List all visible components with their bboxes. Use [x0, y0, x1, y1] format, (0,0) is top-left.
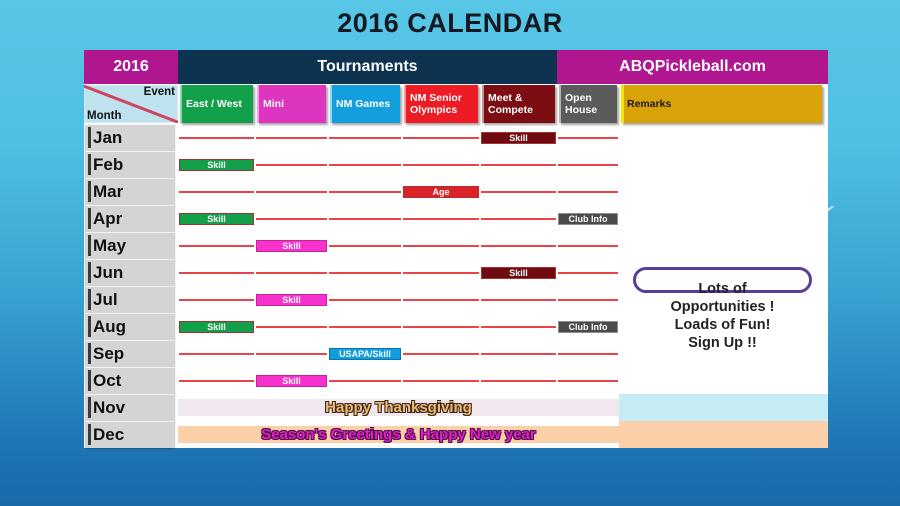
calendar-table: 2016 Tournaments ABQPickleball.com Event… — [84, 50, 828, 448]
cell-oct-nmg[interactable] — [328, 367, 402, 394]
column-header-mini-label: Mini — [257, 85, 326, 123]
remarks-line-3: Sign Up !! — [688, 334, 756, 352]
cell-text — [329, 218, 401, 220]
month-cell-apr: Apr — [84, 205, 178, 232]
banner-tournaments: Tournaments — [178, 50, 557, 84]
cell-text — [179, 380, 254, 382]
cell-feb-nmg[interactable] — [328, 151, 402, 178]
cell-sep-mini[interactable] — [255, 340, 328, 367]
column-header-remarks[interactable]: Remarks — [619, 84, 828, 124]
cell-text — [256, 137, 327, 139]
cell-jan-open[interactable] — [557, 124, 619, 151]
cell-oct-meet[interactable] — [480, 367, 557, 394]
month-cell-jan: Jan — [84, 124, 178, 151]
cell-text — [558, 380, 618, 382]
event-month-corner: Event Month — [84, 84, 178, 124]
cell-sep-open[interactable] — [557, 340, 619, 367]
cell-aug-ew[interactable]: Skill — [178, 313, 255, 340]
dec-remarks-blank — [619, 421, 828, 448]
cell-text — [329, 245, 401, 247]
cell-aug-meet[interactable] — [480, 313, 557, 340]
cell-jul-ew[interactable] — [178, 286, 255, 313]
cell-text — [558, 272, 618, 274]
cell-text — [329, 326, 401, 328]
corner-event-label: Event — [144, 86, 175, 98]
remarks-line-1: Lots of Opportunities ! — [671, 280, 775, 316]
cell-feb-ew[interactable]: Skill — [178, 151, 255, 178]
cell-text: Age — [403, 186, 479, 198]
cell-text — [256, 218, 327, 220]
cell-apr-open[interactable]: Club Info — [557, 205, 619, 232]
cell-text — [558, 137, 618, 139]
month-cell-feb: Feb — [84, 151, 178, 178]
banner-website: ABQPickleball.com — [557, 50, 828, 84]
cell-text: Skill — [481, 132, 556, 144]
cell-text — [558, 191, 618, 193]
cell-text — [256, 191, 327, 193]
thanksgiving-text: Happy Thanksgiving — [325, 399, 472, 416]
cell-oct-mini[interactable]: Skill — [255, 367, 328, 394]
cell-mar-ew[interactable] — [178, 178, 255, 205]
cell-text — [558, 353, 618, 355]
month-label: Feb — [93, 155, 123, 175]
cell-jan-mini[interactable] — [255, 124, 328, 151]
cell-mar-nmg[interactable] — [328, 178, 402, 205]
cell-aug-nmso[interactable] — [402, 313, 480, 340]
cell-feb-meet[interactable] — [480, 151, 557, 178]
cell-apr-meet[interactable] — [480, 205, 557, 232]
cell-jan-meet[interactable]: Skill — [480, 124, 557, 151]
cell-text — [256, 164, 327, 166]
dec-banner-cell: Season's Greetings & Happy New year — [178, 421, 619, 448]
cell-text — [558, 245, 618, 247]
cell-jan-nmg[interactable] — [328, 124, 402, 151]
cell-text — [481, 191, 556, 193]
month-label: Aug — [93, 317, 126, 337]
cell-apr-nmg[interactable] — [328, 205, 402, 232]
column-header-east-west-label: East / West — [180, 85, 253, 123]
month-label: Mar — [93, 182, 123, 202]
month-label: Dec — [93, 425, 124, 445]
cell-oct-nmso[interactable] — [402, 367, 480, 394]
cell-text — [558, 164, 618, 166]
cell-text — [558, 299, 618, 301]
cell-text — [329, 137, 401, 139]
cell-text: Skill — [179, 213, 254, 225]
cell-oct-ew[interactable] — [178, 367, 255, 394]
table-row: Dec Season's Greetings & Happy New year — [84, 421, 828, 448]
banner-year: 2016 — [84, 50, 178, 84]
cell-jun-nmg[interactable] — [328, 259, 402, 286]
nov-remarks-blank — [619, 394, 828, 421]
cell-apr-nmso[interactable] — [402, 205, 480, 232]
banner-row: 2016 Tournaments ABQPickleball.com — [84, 50, 828, 84]
cell-feb-open[interactable] — [557, 151, 619, 178]
cell-text — [403, 164, 479, 166]
cell-text — [403, 353, 479, 355]
cell-may-nmg[interactable] — [328, 232, 402, 259]
cell-aug-open[interactable]: Club Info — [557, 313, 619, 340]
cell-text: Skill — [179, 321, 254, 333]
cell-jun-nmso[interactable] — [402, 259, 480, 286]
cell-text — [329, 380, 401, 382]
month-label: Jun — [93, 263, 123, 283]
cell-text — [403, 272, 479, 274]
month-label: Jul — [93, 290, 118, 310]
column-header-nm-senior-olympics[interactable]: NM Senior Olympics — [402, 84, 480, 124]
month-label: May — [93, 236, 126, 256]
cell-apr-mini[interactable] — [255, 205, 328, 232]
column-header-nm-games[interactable]: NM Games — [328, 84, 402, 124]
cell-text — [256, 326, 327, 328]
cell-mar-open[interactable] — [557, 178, 619, 205]
cell-text — [256, 353, 327, 355]
seasons-greetings-text: Season's Greetings & Happy New year — [261, 426, 536, 443]
month-cell-jun: Jun — [84, 259, 178, 286]
cell-sep-ew[interactable] — [178, 340, 255, 367]
cell-jul-meet[interactable] — [480, 286, 557, 313]
column-header-meet-compete-label: Meet & Compete — [482, 85, 555, 123]
cell-text: Club Info — [558, 321, 618, 333]
month-label: Jan — [93, 128, 122, 148]
remarks-line-2: Loads of Fun! — [675, 316, 771, 334]
cell-sep-nmg[interactable]: USAPA/Skill — [328, 340, 402, 367]
cell-text — [329, 164, 401, 166]
column-header-open-house[interactable]: Open House — [557, 84, 619, 124]
cell-may-meet[interactable] — [480, 232, 557, 259]
cell-text: Skill — [481, 267, 556, 279]
cell-sep-meet[interactable] — [480, 340, 557, 367]
cell-mar-nmso[interactable]: Age — [402, 178, 480, 205]
cell-jul-nmso[interactable] — [402, 286, 480, 313]
cell-may-mini[interactable]: Skill — [255, 232, 328, 259]
month-label: Sep — [93, 344, 124, 364]
cell-text — [256, 272, 327, 274]
cell-text — [481, 299, 556, 301]
cell-text — [403, 326, 479, 328]
cell-text: USAPA/Skill — [329, 348, 401, 360]
cell-text: Skill — [256, 294, 327, 306]
cell-text: Skill — [256, 240, 327, 252]
cell-text — [403, 137, 479, 139]
cell-text — [481, 380, 556, 382]
page-title: 2016 CALENDAR — [0, 8, 900, 39]
cell-jan-ew[interactable] — [178, 124, 255, 151]
month-cell-oct: Oct — [84, 367, 178, 394]
cell-text — [481, 245, 556, 247]
month-cell-dec: Dec — [84, 421, 178, 448]
remarks-panel: Lots of Opportunities ! Loads of Fun! Si… — [619, 124, 828, 394]
cell-text — [179, 137, 254, 139]
cell-text — [403, 245, 479, 247]
cell-jun-meet[interactable]: Skill — [480, 259, 557, 286]
column-header-nm-games-label: NM Games — [330, 85, 400, 123]
column-header-east-west[interactable]: East / West — [178, 84, 255, 124]
cell-jul-mini[interactable]: Skill — [255, 286, 328, 313]
cell-text — [329, 272, 401, 274]
column-header-nm-senior-olympics-label: NM Senior Olympics — [404, 85, 478, 123]
cell-may-nmso[interactable] — [402, 232, 480, 259]
cell-text — [329, 299, 401, 301]
cell-text — [179, 272, 254, 274]
cell-aug-mini[interactable] — [255, 313, 328, 340]
column-header-meet-compete[interactable]: Meet & Compete — [480, 84, 557, 124]
month-cell-nov: Nov — [84, 394, 178, 421]
remarks-line-1a: Lots of — [698, 281, 746, 297]
month-cell-mar: Mar — [84, 178, 178, 205]
cell-apr-ew[interactable]: Skill — [178, 205, 255, 232]
month-cell-aug: Aug — [84, 313, 178, 340]
cell-text — [179, 353, 254, 355]
cell-text — [481, 326, 556, 328]
cell-text — [403, 218, 479, 220]
remarks-line-1b: Opportunities ! — [671, 299, 775, 315]
corner-month-label: Month — [87, 110, 121, 122]
cell-jul-open[interactable] — [557, 286, 619, 313]
column-header-open-house-label: Open House — [559, 85, 617, 123]
nov-banner-cell: Happy Thanksgiving — [178, 394, 619, 421]
cell-sep-nmso[interactable] — [402, 340, 480, 367]
cell-text — [403, 299, 479, 301]
cell-jul-nmg[interactable] — [328, 286, 402, 313]
cell-may-open[interactable] — [557, 232, 619, 259]
column-header-mini[interactable]: Mini — [255, 84, 328, 124]
column-header-row: Event Month East / West Mini NM Games NM… — [84, 84, 828, 124]
cell-oct-open[interactable] — [557, 367, 619, 394]
table-row: Nov Happy Thanksgiving — [84, 394, 828, 421]
cell-text: Skill — [256, 375, 327, 387]
month-label: Oct — [93, 371, 121, 391]
column-header-remarks-label: Remarks — [621, 85, 822, 123]
month-cell-may: May — [84, 232, 178, 259]
remarks-box: Lots of Opportunities ! Loads of Fun! Si… — [633, 267, 812, 293]
cell-feb-mini[interactable] — [255, 151, 328, 178]
month-cell-jul: Jul — [84, 286, 178, 313]
cell-jun-open[interactable] — [557, 259, 619, 286]
cell-text — [179, 245, 254, 247]
cell-mar-meet[interactable] — [480, 178, 557, 205]
cell-may-ew[interactable] — [178, 232, 255, 259]
cell-text: Club Info — [558, 213, 618, 225]
cell-text — [329, 191, 401, 193]
cell-feb-nmso[interactable] — [402, 151, 480, 178]
cell-jan-nmso[interactable] — [402, 124, 480, 151]
month-cell-sep: Sep — [84, 340, 178, 367]
cell-aug-nmg[interactable] — [328, 313, 402, 340]
cell-text — [403, 380, 479, 382]
cell-text — [179, 299, 254, 301]
cell-text — [481, 353, 556, 355]
cell-jun-ew[interactable] — [178, 259, 255, 286]
month-label: Nov — [93, 398, 125, 418]
cell-text — [481, 164, 556, 166]
calendar-sheet: 2016 Tournaments ABQPickleball.com Event… — [84, 50, 828, 448]
cell-text — [179, 191, 254, 193]
month-label: Apr — [93, 209, 122, 229]
cell-mar-mini[interactable] — [255, 178, 328, 205]
cell-jun-mini[interactable] — [255, 259, 328, 286]
cell-text: Skill — [179, 159, 254, 171]
cell-text — [481, 218, 556, 220]
table-row: Jan Skill Lots of Opportunities ! Loads … — [84, 124, 828, 151]
